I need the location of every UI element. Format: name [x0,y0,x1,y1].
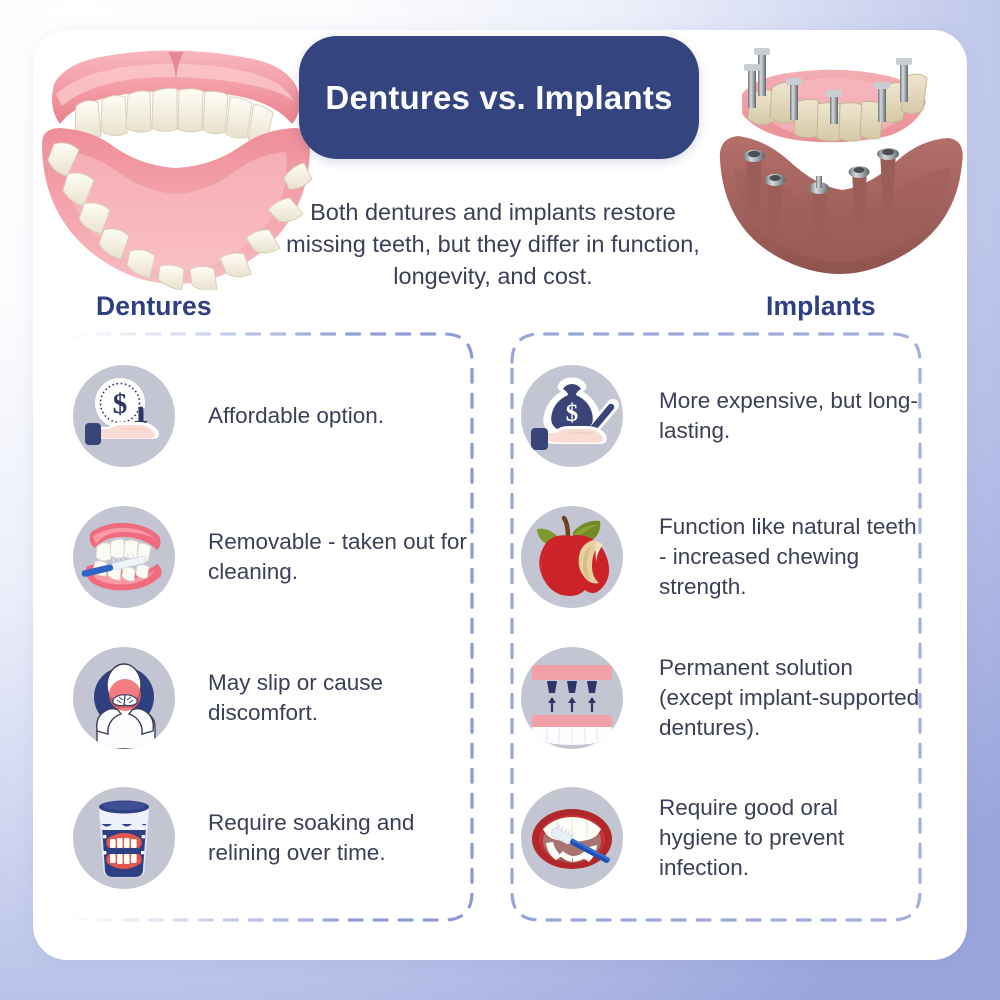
icon-wrap: $ [510,354,634,478]
page-title: Dentures vs. Implants [325,79,672,117]
implant-supported-denture-icon [521,647,623,749]
dentures-soaking-in-glass-icon [73,787,175,889]
implant-supported-denture-photo [712,42,970,280]
bitten-apple-icon [521,506,623,608]
svg-text:$: $ [566,400,579,427]
list-item: Function like natural teeth - increased … [510,495,922,619]
list-item-label: More expensive, but long-lasting. [634,386,922,446]
dentures-photo [36,32,316,290]
list-item-label: Require soaking and relining over time. [186,808,474,868]
list-item: Permanent solution (except implant-suppo… [510,636,922,760]
hand-holding-dollar-coin-down-arrow-icon: $ [73,365,175,467]
svg-text:$: $ [113,388,128,420]
list-item-label: Require good oral hygiene to prevent inf… [634,793,922,883]
icon-wrap [510,636,634,760]
list-item-label: Function like natural teeth - increased … [634,512,922,602]
dentures-list: $ Affordable option [62,332,474,922]
open-mouth-toothbrush-icon [521,787,623,889]
list-item: Require good oral hygiene to prevent inf… [510,776,922,900]
implants-list: $ More expensive, but long-lasting. [510,332,922,922]
list-item-label: Affordable option. [186,401,384,431]
title-badge: Dentures vs. Implants [299,36,699,159]
icon-wrap [510,495,634,619]
icon-wrap [62,636,186,760]
dentures-toothbrush-icon [73,506,175,608]
icon-wrap [62,495,186,619]
icon-wrap: $ [62,354,186,478]
list-item: $ More expensive, but long-lasting. [510,354,922,478]
list-item: Removable - taken out for cleaning. [62,495,474,619]
hand-holding-money-bag-check-icon: $ [521,365,623,467]
list-item-label: Permanent solution (except implant-suppo… [634,653,922,743]
list-item: $ Affordable option [62,354,474,478]
list-item: Require soaking and relining over time. [62,776,474,900]
icon-wrap [62,776,186,900]
face-pain-discomfort-icon [73,647,175,749]
icon-wrap [510,776,634,900]
list-item: May slip or cause discomfort. [62,636,474,760]
column-heading-implants: Implants [766,291,876,322]
column-heading-dentures: Dentures [96,291,212,322]
subtitle-text: Both dentures and implants restore missi… [283,196,703,292]
list-item-label: May slip or cause discomfort. [186,668,474,728]
infographic-canvas: Dentures vs. Implants Both dentures and … [0,0,1000,1000]
list-item-label: Removable - taken out for cleaning. [186,527,474,587]
